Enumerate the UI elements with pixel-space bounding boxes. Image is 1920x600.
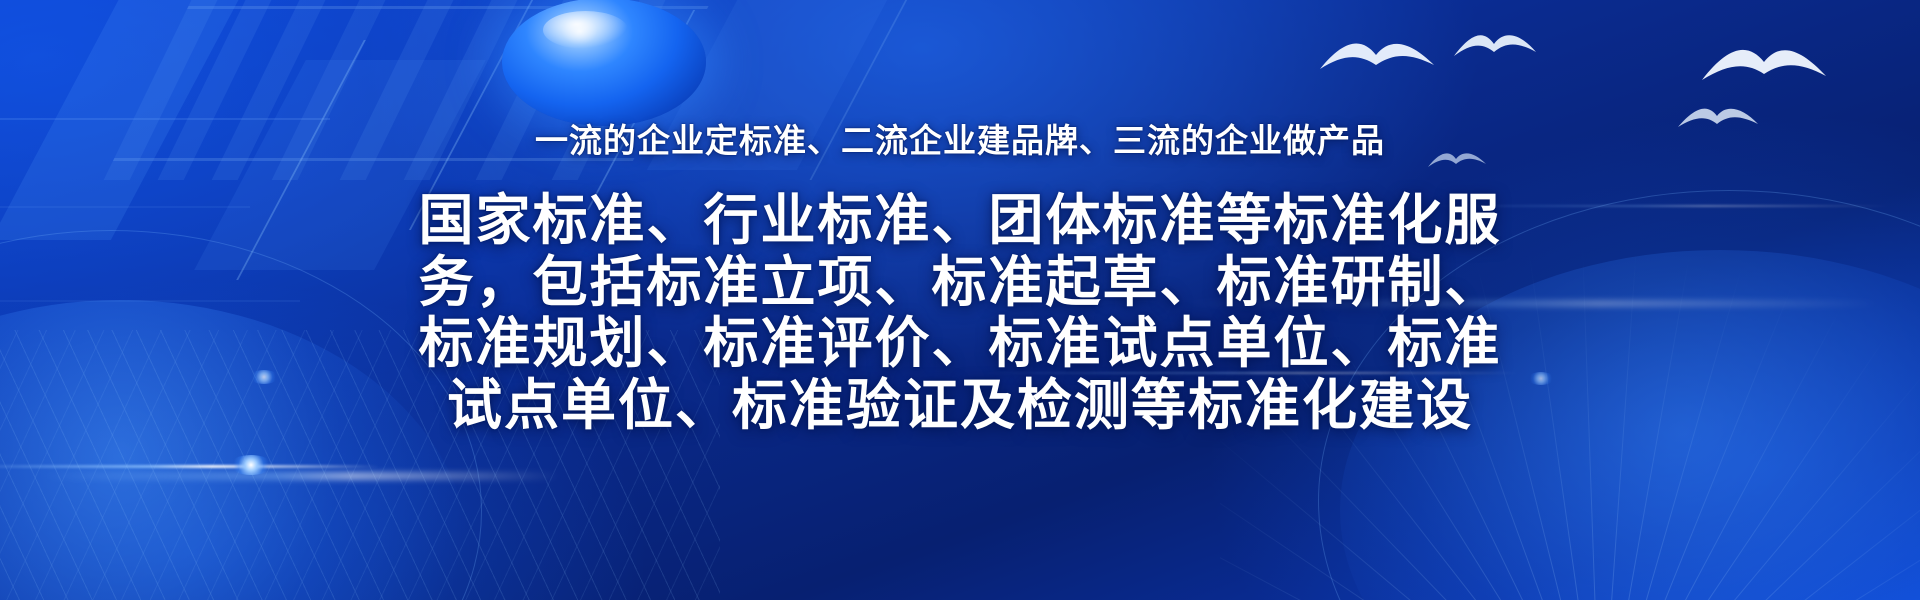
banner-headline: 一流的企业定标准、二流企业建品牌、三流的企业做产品	[0, 114, 1920, 162]
body-line: 试点单位、标准验证及检测等标准化建设	[300, 375, 1620, 437]
body-line: 标准规划、标准评价、标准试点单位、标准	[300, 313, 1620, 375]
banner-canvas: 一流的企业定标准、二流企业建品牌、三流的企业做产品 国家标准、行业标准、团体标准…	[0, 0, 1920, 600]
banner-body-copy: 国家标准、行业标准、团体标准等标准化服 务，包括标准立项、标准起草、标准研制、 …	[300, 190, 1620, 436]
banner-copy: 一流的企业定标准、二流企业建品牌、三流的企业做产品 国家标准、行业标准、团体标准…	[0, 0, 1920, 600]
body-line: 国家标准、行业标准、团体标准等标准化服	[300, 190, 1620, 252]
body-line: 务，包括标准立项、标准起草、标准研制、	[300, 252, 1620, 314]
